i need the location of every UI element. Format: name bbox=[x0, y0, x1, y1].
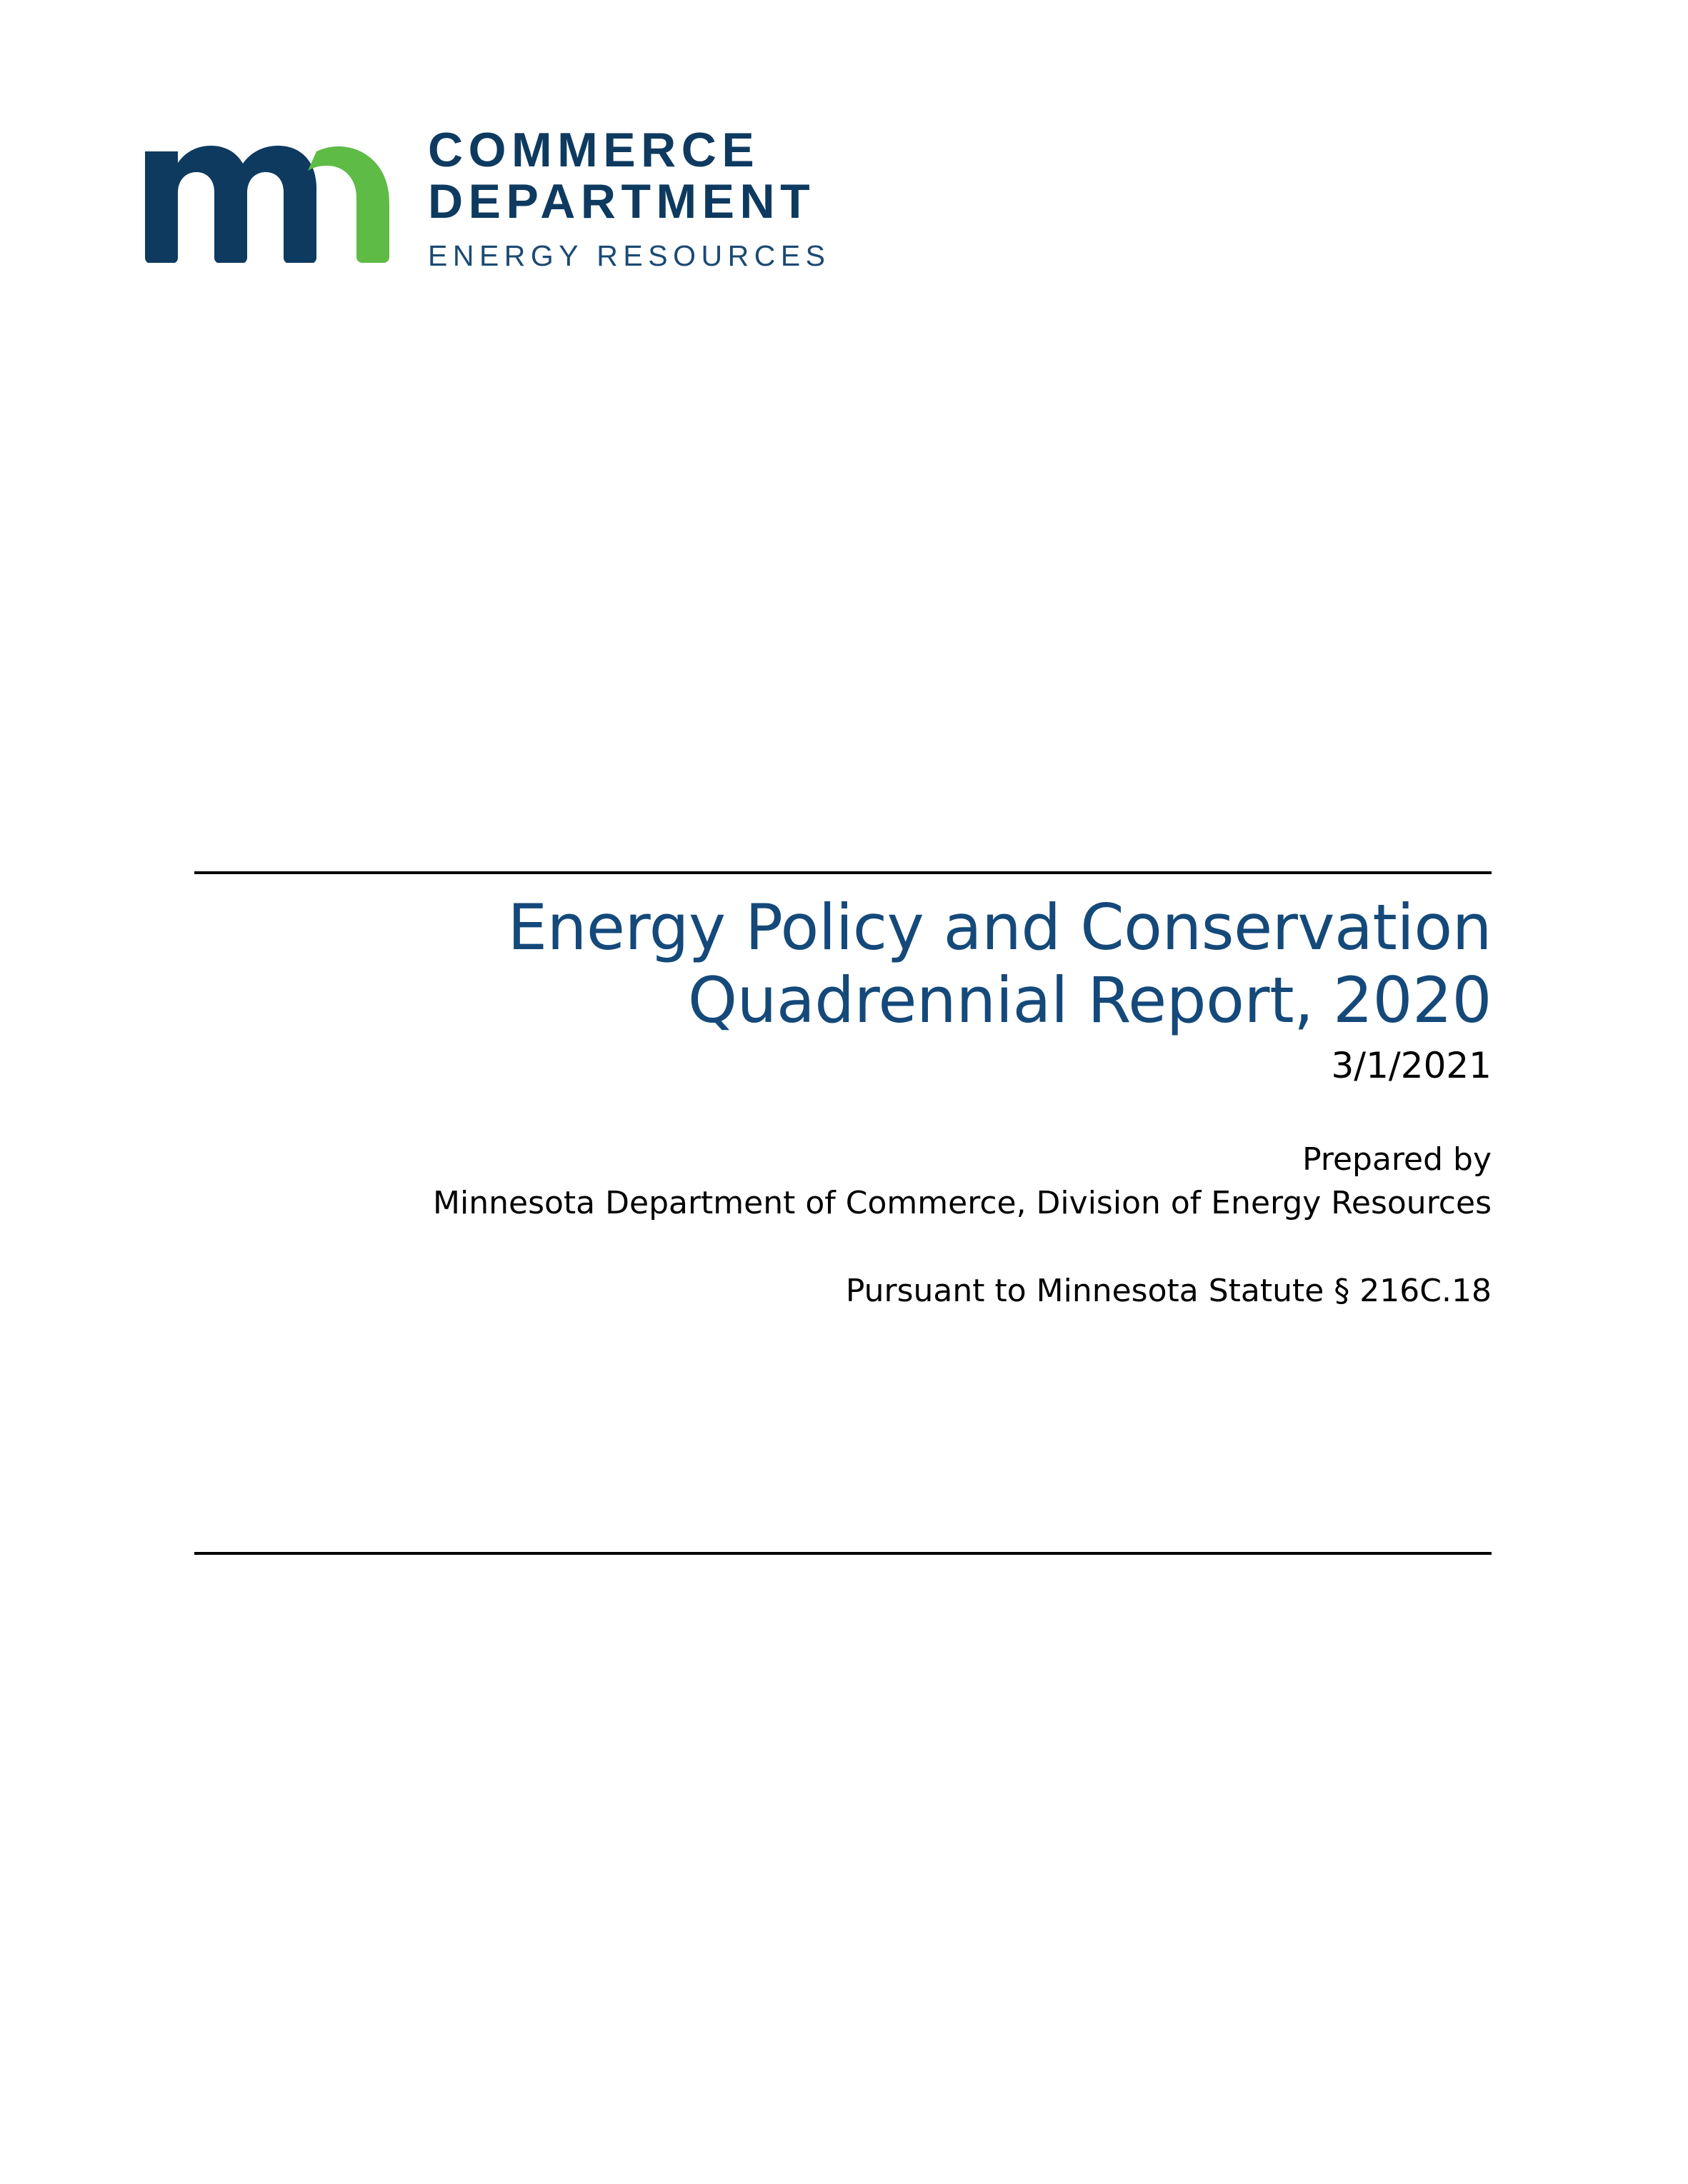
page-title-line-1: Energy Policy and Conservation bbox=[194, 891, 1492, 964]
page-title: Energy Policy and Conservation Quadrenni… bbox=[194, 891, 1492, 1037]
prepared-by-label: Prepared by bbox=[194, 1138, 1492, 1182]
wordmark-line-department: DEPARTMENT bbox=[428, 176, 831, 227]
mn-logo-mark-icon bbox=[139, 120, 404, 263]
title-frame: Energy Policy and Conservation Quadrenni… bbox=[194, 871, 1492, 1313]
wordmark-line-energy-resources: ENERGY RESOURCES bbox=[428, 241, 831, 271]
page-title-line-2: Quadrennial Report, 2020 bbox=[194, 964, 1492, 1037]
publication-date: 3/1/2021 bbox=[194, 1044, 1492, 1087]
title-content: Energy Policy and Conservation Quadrenni… bbox=[194, 874, 1492, 1313]
wordmark-line-commerce: COMMERCE bbox=[428, 124, 831, 176]
prepared-by-organization: Minnesota Department of Commerce, Divisi… bbox=[194, 1182, 1492, 1226]
title-rule-bottom bbox=[194, 1552, 1492, 1555]
prepared-by-block: Prepared by Minnesota Department of Comm… bbox=[194, 1138, 1492, 1225]
agency-wordmark: COMMERCE DEPARTMENT ENERGY RESOURCES bbox=[428, 124, 831, 271]
statute-citation: Pursuant to Minnesota Statute § 216C.18 bbox=[194, 1270, 1492, 1313]
agency-logo: COMMERCE DEPARTMENT ENERGY RESOURCES bbox=[139, 120, 831, 271]
cover-page: COMMERCE DEPARTMENT ENERGY RESOURCES Ene… bbox=[0, 0, 1688, 2184]
